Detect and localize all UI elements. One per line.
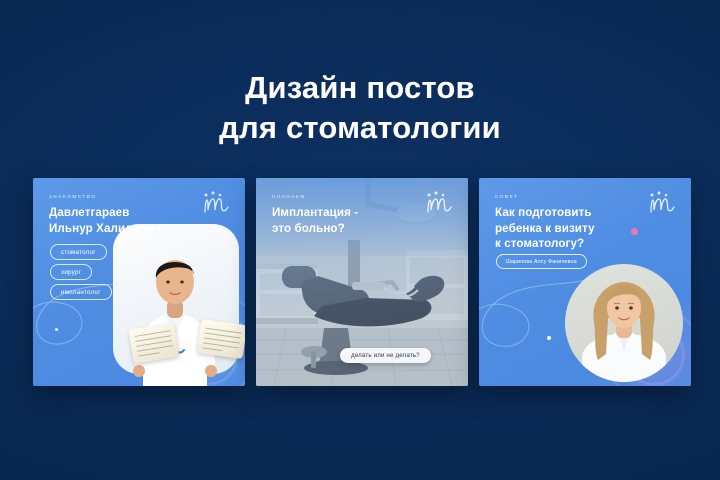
card-title-line-1: Имплантация - xyxy=(272,205,358,221)
card-title: Давлетгараев Ильнур Халилович xyxy=(49,205,161,236)
certificate-right xyxy=(197,319,245,359)
doctor-name-pill[interactable]: Шарипова Алсу Фанилевна xyxy=(496,254,587,269)
post-card-implantation[interactable]: ПОЗНАЕМ Имплантация - это больно? делать… xyxy=(256,178,468,386)
avatar xyxy=(565,264,683,382)
page-title: Дизайн постов для стоматологии xyxy=(0,68,720,147)
decorative-dot xyxy=(547,336,551,340)
tag-implantolog[interactable]: имплантолог xyxy=(50,284,112,300)
card-kicker: СОВЕТ xyxy=(495,194,518,199)
card-title-line-2: это больно? xyxy=(272,221,358,237)
portrait-photo-dentist-male xyxy=(131,238,219,386)
card-title: Имплантация - это больно? xyxy=(272,205,358,236)
card-title-line-2: Ильнур Халилович xyxy=(49,221,161,237)
card-kicker: ЗНАКОМСТВО xyxy=(49,194,97,199)
script-monogram-logo xyxy=(424,190,454,216)
script-monogram-logo xyxy=(201,190,231,216)
card-title-line-3: к стоматологу? xyxy=(495,236,595,252)
card-title-line-1: Как подготовить xyxy=(495,205,595,221)
card-title-line-2: ребенка к визиту xyxy=(495,221,595,237)
script-monogram-logo xyxy=(647,190,677,216)
accent-dot-pink xyxy=(631,228,638,235)
card-gallery: ЗНАКОМСТВО Давлетгараев Ильнур Халилович… xyxy=(33,178,690,386)
card-title-line-1: Давлетгараев xyxy=(49,205,161,221)
post-card-advice[interactable]: СОВЕТ Как подготовить ребенка к визиту к… xyxy=(479,178,691,386)
portrait-photo-dentist-female xyxy=(576,274,672,382)
slide-canvas: Дизайн постов для стоматологии xyxy=(0,0,720,480)
certificate-left xyxy=(129,323,180,364)
question-bubble[interactable]: делать или не делать? xyxy=(340,348,431,363)
tag-stomatolog[interactable]: стоматолог xyxy=(50,244,107,260)
tag-hirurg[interactable]: хирург xyxy=(50,264,92,280)
decorative-dot xyxy=(55,328,58,331)
page-title-line-1: Дизайн постов xyxy=(0,68,720,108)
card-kicker: ПОЗНАЕМ xyxy=(272,194,306,199)
card-title: Как подготовить ребенка к визиту к стома… xyxy=(495,205,595,252)
page-title-line-2: для стоматологии xyxy=(0,108,720,148)
post-card-intro[interactable]: ЗНАКОМСТВО Давлетгараев Ильнур Халилович… xyxy=(33,178,245,386)
